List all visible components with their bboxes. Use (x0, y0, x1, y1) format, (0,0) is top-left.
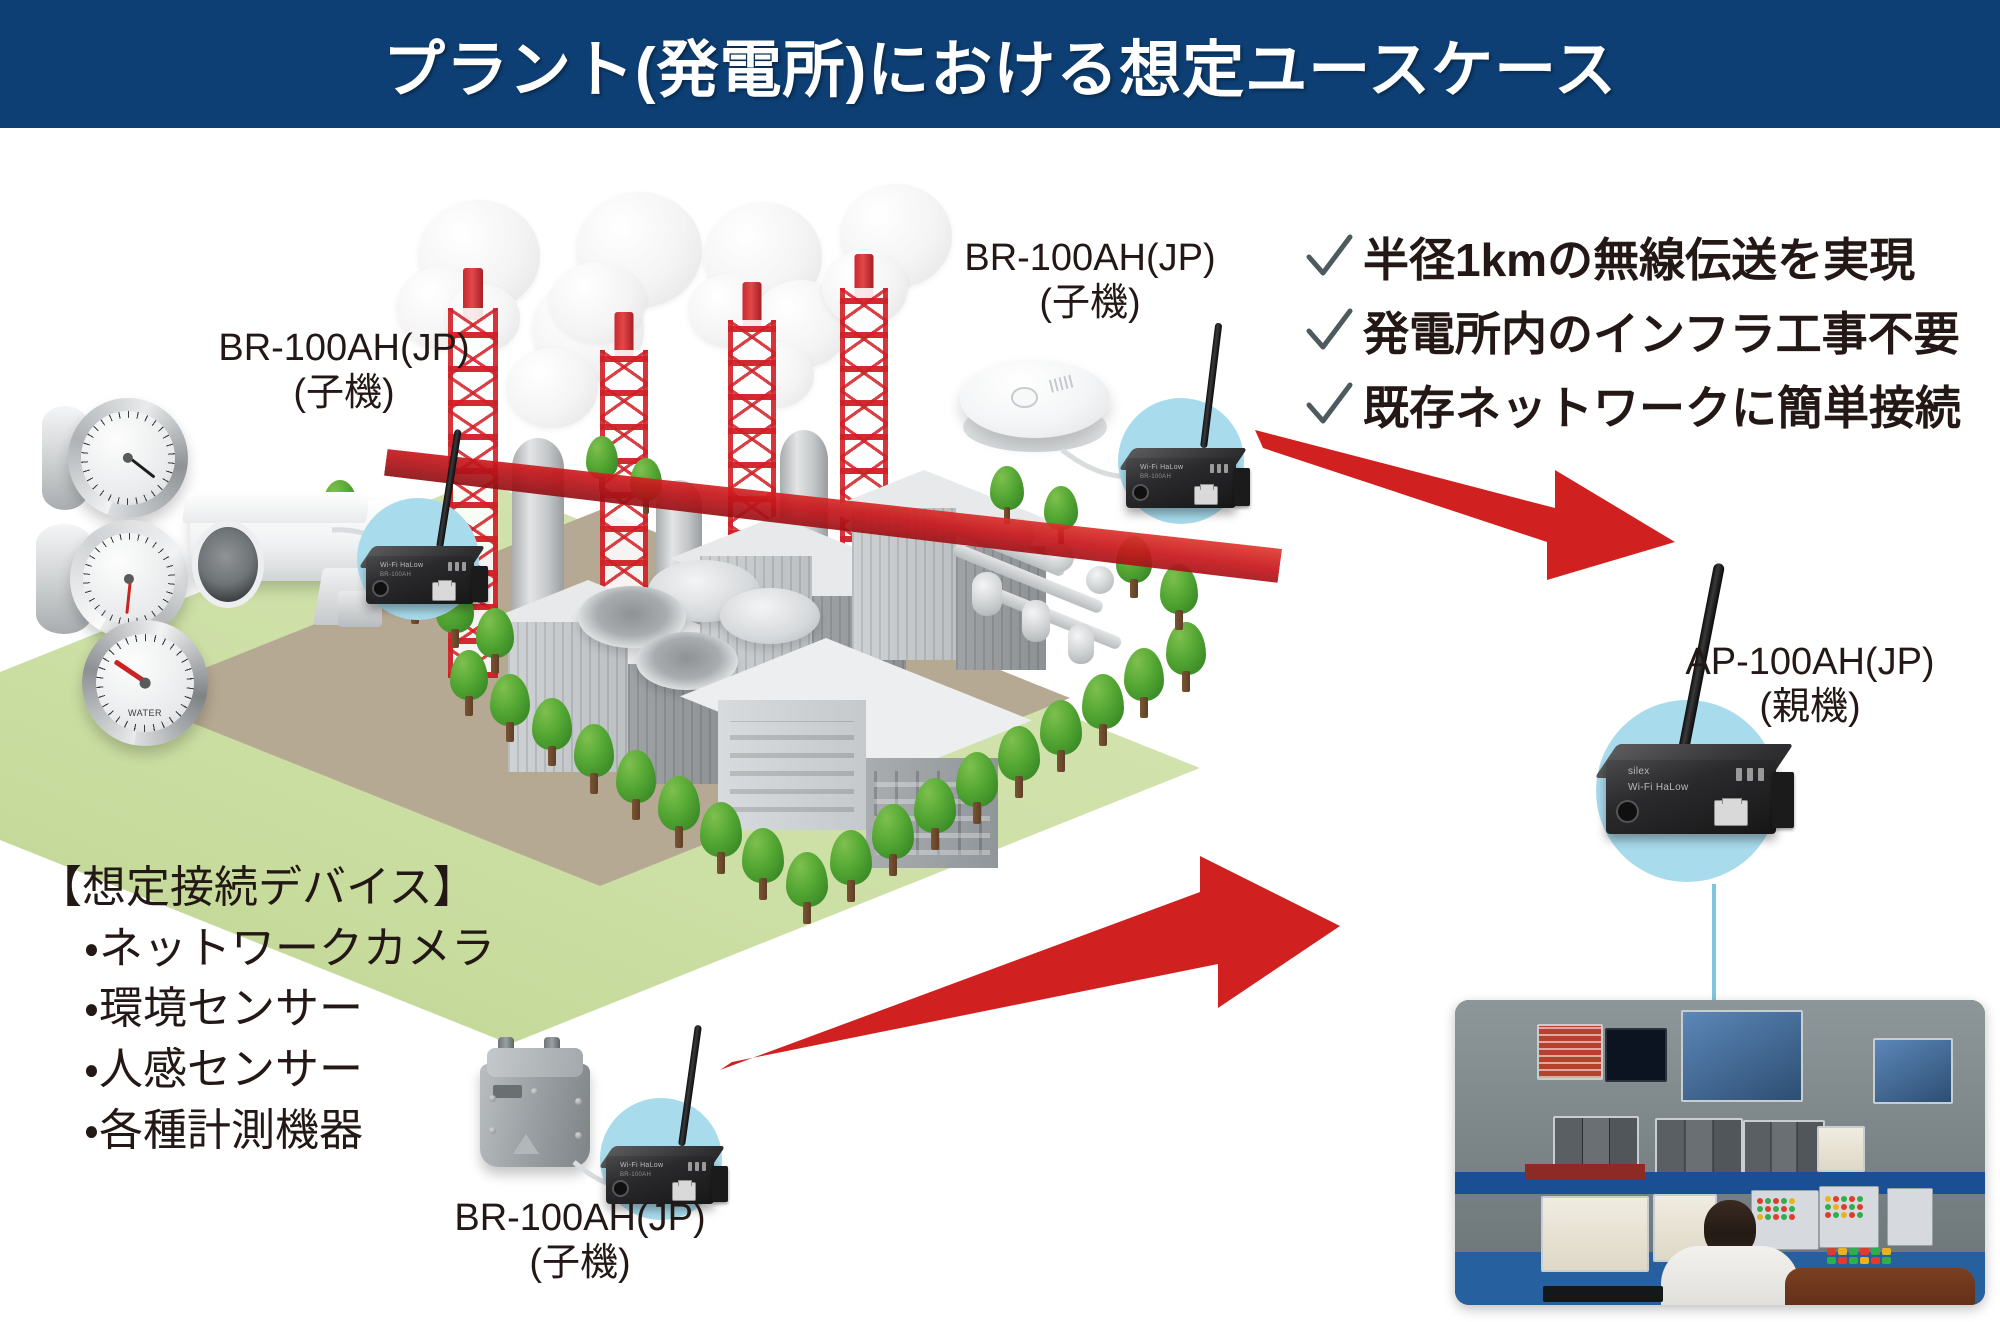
status-leds (1736, 768, 1764, 781)
benefit-row: 半径1kmの無線伝送を実現 (1305, 228, 1995, 286)
operator-person (1655, 1200, 1805, 1305)
tree (1166, 622, 1206, 692)
tree (532, 698, 572, 766)
cctv-monitor (1743, 1120, 1825, 1174)
tree (490, 674, 530, 742)
pressure-vessel (1068, 624, 1094, 664)
smoke-puff (506, 348, 598, 428)
tree (574, 724, 614, 794)
keyboard (1543, 1286, 1663, 1302)
list-item: ・環境センサー (84, 979, 495, 1040)
model-name: BR-100AH(JP) (964, 237, 1215, 279)
gas-meter (480, 1040, 590, 1172)
device-brand: Wi-Fi HaLow (1628, 782, 1689, 793)
model-name: BR-100AH(JP) (454, 1197, 705, 1239)
role-name: (親機) (1660, 685, 1960, 730)
benefit-text: 既存ネットワークに簡単接続 (1363, 372, 1961, 438)
power-jack (372, 580, 389, 597)
connected-device-list: 【想定接続デバイス】 ・ネットワークカメラ ・環境センサー ・人感センサー ・各… (38, 858, 495, 1162)
benefit-row: 発電所内のインフラ工事不要 (1305, 302, 1995, 360)
model-name: BR-100AH(JP) (218, 327, 469, 369)
tree (616, 750, 656, 820)
label-access-point: AP-100AH(JP) (親機) (1660, 640, 1960, 730)
power-jack (612, 1180, 629, 1197)
cctv-monitor (1655, 1118, 1743, 1174)
check-icon (1305, 307, 1353, 355)
rj45-port (1714, 800, 1748, 826)
mount-bracket (472, 566, 488, 602)
ceiling-sensor (960, 360, 1110, 465)
role-name: (子機) (194, 371, 494, 416)
check-icon (1305, 381, 1353, 429)
model-name: AP-100AH(JP) (1685, 641, 1934, 683)
tree (450, 650, 488, 716)
wall-display-scada (1681, 1010, 1803, 1102)
device-list-items: ・ネットワークカメラ ・環境センサー ・人感センサー ・各種計測機器 (38, 919, 495, 1162)
water-pressure-gauge: WATER (82, 620, 208, 746)
device-brand-silex: silex (1628, 766, 1650, 777)
device-brand: Wi-Fi HaLow (1140, 464, 1183, 471)
operator-chair (1785, 1268, 1975, 1305)
wall-display-alarm (1537, 1024, 1603, 1080)
device-model-text: BR-100AH (380, 572, 411, 578)
tree (1160, 564, 1198, 630)
data-monitor (1817, 1126, 1865, 1172)
tree (1124, 648, 1164, 718)
tree (956, 752, 998, 824)
mount-bracket (1772, 772, 1794, 828)
console-buttons (1827, 1248, 1891, 1264)
rj45-port (1194, 486, 1218, 505)
list-item: ・各種計測機器 (84, 1101, 495, 1162)
device-brand: Wi-Fi HaLow (620, 1162, 663, 1169)
label-meter-bridge: BR-100AH(JP) (子機) (430, 1196, 730, 1286)
window-band (730, 721, 854, 812)
page-title: プラント(発電所)における想定ユースケース (383, 19, 1617, 109)
list-item: ・人感センサー (84, 1040, 495, 1101)
tree (1040, 700, 1082, 772)
benefit-text: 発電所内のインフラ工事不要 (1363, 298, 1960, 364)
pressure-gauge (68, 398, 188, 518)
status-leds (448, 562, 466, 571)
gauge-face-label: WATER (96, 708, 194, 718)
check-icon (1305, 233, 1353, 281)
tree (658, 776, 700, 848)
tree (998, 726, 1040, 798)
role-name: (子機) (940, 281, 1240, 326)
status-leds (688, 1162, 706, 1171)
pressure-vessel (1022, 600, 1050, 642)
storage-tank (720, 588, 820, 644)
rj45-port (432, 582, 456, 601)
control-room-photo (1455, 1000, 1985, 1305)
benefits-checklist: 半径1kmの無線伝送を実現 発電所内のインフラ工事不要 既存ネットワークに簡単接… (1305, 228, 1995, 450)
wall-display-terminal (1605, 1028, 1667, 1082)
device-model-text: BR-100AH (1140, 474, 1171, 480)
title-banner: プラント(発電所)における想定ユースケース (0, 0, 2000, 128)
wall-display-diagram (1873, 1038, 1953, 1104)
bridge-device-sensor: Wi-Fi HaLow BR-100AH (1120, 360, 1260, 525)
red-arrow-to-ap-upper (1255, 430, 1675, 580)
tree (990, 466, 1024, 524)
ap-to-controlroom-connector (1712, 884, 1716, 1002)
device-model-text: BR-100AH (620, 1172, 651, 1178)
status-leds (1210, 464, 1228, 473)
console-panel-red (1525, 1164, 1645, 1180)
power-jack (1132, 484, 1149, 501)
role-name: (子機) (430, 1241, 730, 1286)
power-jack (1616, 800, 1639, 823)
red-arrow-to-ap-lower (720, 840, 1340, 1070)
device-brand: Wi-Fi HaLow (380, 562, 423, 569)
label-sensor-bridge: BR-100AH(JP) (子機) (940, 236, 1240, 326)
slide-canvas: プラント(発電所)における想定ユースケース (0, 0, 2000, 1322)
bridge-device-camera: Wi-Fi HaLow BR-100AH (360, 462, 500, 622)
workstation-monitor (1541, 1196, 1649, 1272)
list-item: ・ネットワークカメラ (84, 919, 495, 980)
device-list-title: 【想定接続デバイス】 (38, 858, 495, 919)
pressure-vessel (1086, 566, 1114, 594)
antenna (678, 1025, 702, 1147)
tree (1082, 674, 1124, 746)
mount-bracket (1234, 468, 1250, 506)
indicator-lights (1825, 1196, 1863, 1218)
control-panel (1887, 1188, 1933, 1246)
benefit-row: 既存ネットワークに簡単接続 (1305, 376, 1995, 434)
label-camera-bridge: BR-100AH(JP) (子機) (194, 326, 494, 416)
pressure-vessel (972, 572, 1002, 616)
benefit-text: 半径1kmの無線伝送を実現 (1363, 224, 1915, 290)
